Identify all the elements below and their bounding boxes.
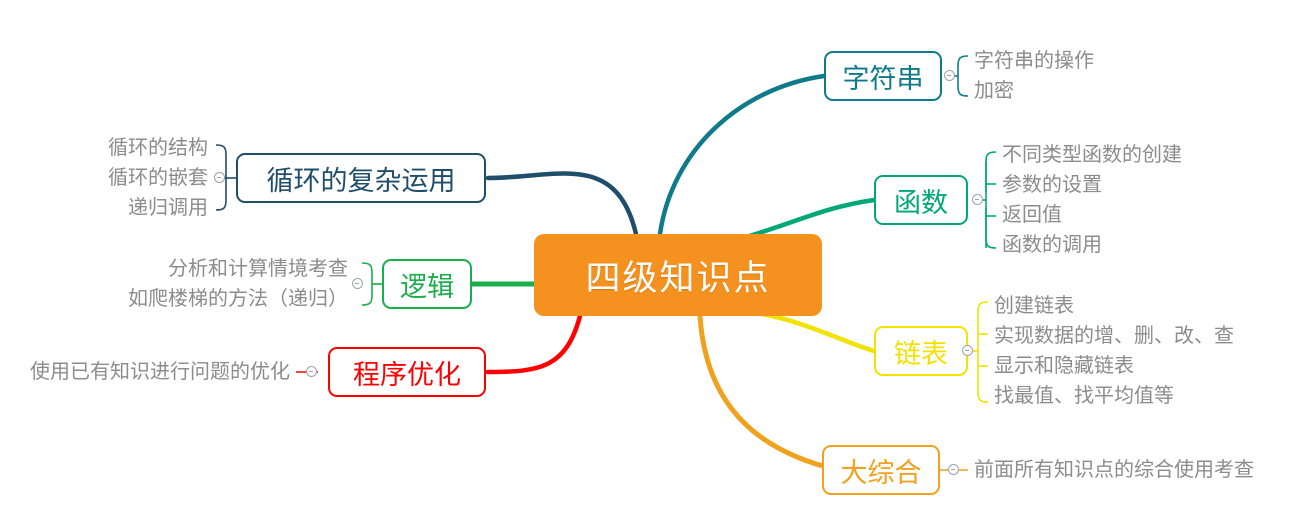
subbranch-bracket-linked-list (978, 302, 988, 402)
leaf-group-linked-list: 创建链表 实现数据的增、删、改、查 显示和隐藏链表 找最值、找平均值等 (994, 289, 1234, 413)
subbranch-bracket-function (986, 152, 996, 248)
subbranch-bracket-string (958, 56, 968, 96)
branch-line-string (660, 76, 824, 234)
branch-node-optimization-label: 程序优化 (353, 353, 461, 392)
leaf-item: 创建链表 (994, 291, 1074, 321)
leaf-group-string: 字符串的操作 加密 (974, 44, 1094, 108)
branch-node-linked-list[interactable]: 链表 (874, 326, 968, 376)
collapse-minus-icon-linked-list[interactable] (962, 345, 973, 356)
branch-node-linked-list-label: 链表 (894, 332, 948, 371)
leaf-group-comprehensive: 前面所有知识点的综合使用考查 (974, 455, 1254, 485)
leaf-item: 函数的调用 (1002, 230, 1102, 260)
branch-line-optimization (488, 316, 580, 372)
branch-node-comprehensive[interactable]: 大综合 (822, 445, 940, 495)
leaf-item: 递归调用 (128, 193, 208, 223)
leaf-item: 字符串的操作 (974, 46, 1094, 76)
leaf-group-logic: 分析和计算情境考查 如爬楼梯的方法（递归） (70, 254, 348, 314)
collapse-minus-icon-logic[interactable] (352, 278, 363, 289)
branch-line-comprehensive (700, 316, 838, 470)
collapse-minus-icon-loop[interactable] (214, 172, 225, 183)
collapse-minus-icon-comprehensive[interactable] (948, 464, 959, 475)
leaf-item: 不同类型函数的创建 (1002, 140, 1182, 170)
collapse-minus-icon-string[interactable] (944, 70, 955, 81)
leaf-item: 如爬楼梯的方法（递归） (128, 284, 348, 314)
branch-node-optimization[interactable]: 程序优化 (328, 347, 486, 397)
leaf-item: 加密 (974, 76, 1014, 106)
leaf-item: 显示和隐藏链表 (994, 351, 1134, 381)
root-node[interactable]: 四级知识点 (534, 234, 822, 316)
collapse-minus-icon-optimization[interactable] (306, 366, 317, 377)
leaf-item: 循环的结构 (108, 133, 208, 163)
root-node-label: 四级知识点 (585, 250, 770, 301)
leaf-group-loop: 循环的结构 循环的嵌套 递归调用 (0, 133, 208, 223)
branch-node-loop[interactable]: 循环的复杂运用 (236, 153, 486, 203)
subbranch-bracket-logic (362, 263, 372, 305)
branch-node-string[interactable]: 字符串 (824, 51, 942, 101)
branch-node-function[interactable]: 函数 (874, 175, 968, 225)
leaf-item: 前面所有知识点的综合使用考查 (974, 455, 1254, 485)
branch-node-loop-label: 循环的复杂运用 (267, 159, 456, 198)
leaf-item: 循环的嵌套 (108, 163, 208, 193)
leaf-item: 返回值 (1002, 200, 1062, 230)
branch-line-linked-list (722, 310, 874, 351)
branch-node-function-label: 函数 (894, 181, 948, 220)
leaf-group-optimization: 使用已有知识进行问题的优化 (0, 357, 290, 387)
branch-node-comprehensive-label: 大综合 (841, 451, 922, 490)
branch-node-logic-label: 逻辑 (400, 265, 454, 304)
branch-node-logic[interactable]: 逻辑 (382, 259, 472, 309)
branch-line-loop (488, 174, 636, 234)
collapse-minus-icon-function[interactable] (972, 194, 983, 205)
leaf-item: 分析和计算情境考查 (168, 254, 348, 284)
branch-node-string-label: 字符串 (843, 57, 924, 96)
leaf-item: 使用已有知识进行问题的优化 (30, 357, 290, 387)
leaf-item: 找最值、找平均值等 (994, 381, 1174, 411)
leaf-item: 参数的设置 (1002, 170, 1102, 200)
mindmap-canvas: 四级知识点 字符串 字符串的操作 加密 函数 不同类型函数的创建 参数的设置 返… (0, 0, 1304, 513)
leaf-group-function: 不同类型函数的创建 参数的设置 返回值 函数的调用 (1002, 138, 1182, 262)
leaf-item: 实现数据的增、删、改、查 (994, 321, 1234, 351)
